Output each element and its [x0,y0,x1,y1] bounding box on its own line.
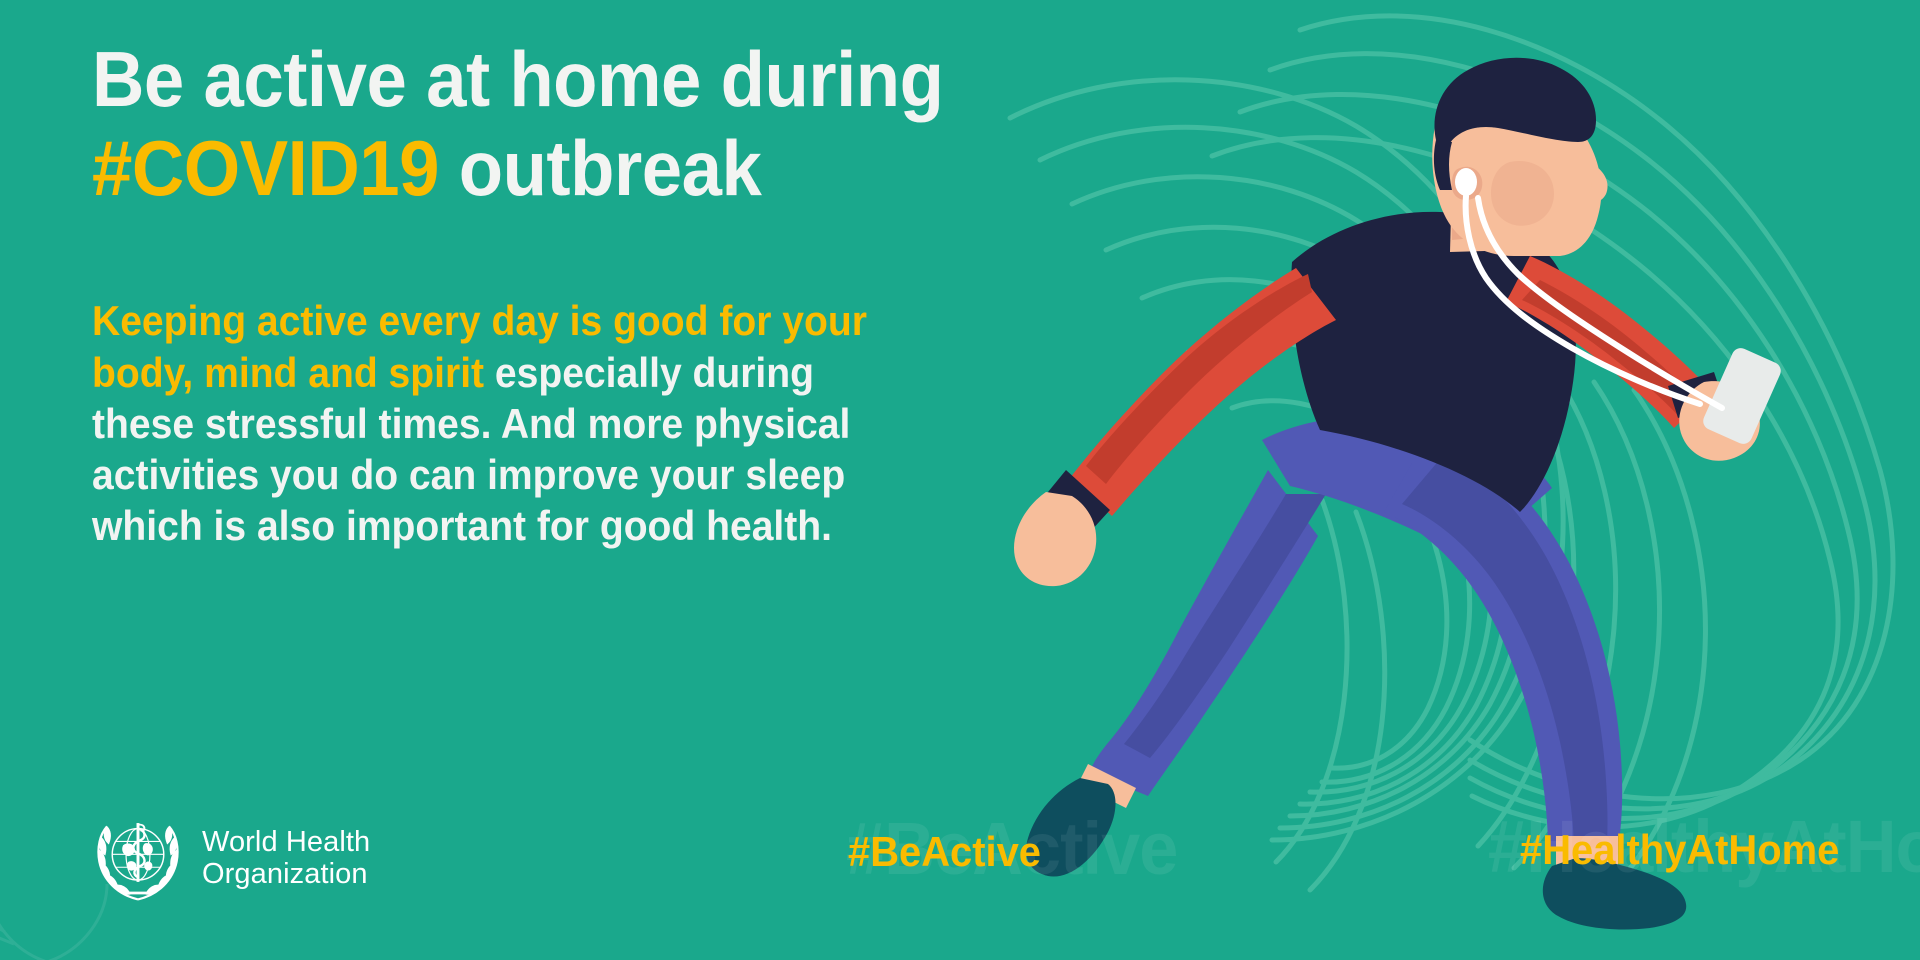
headline-text-1: Be active at home during [92,35,943,123]
headline-covid-tag: #COVID19 [92,124,439,212]
hashtag-healthyathome: #HealthyAtHome [1520,826,1839,874]
who-wordmark: World Health Organization [202,826,370,891]
earbud [1455,168,1477,196]
text-column: Be active at home during #COVID19 outbre… [92,38,1032,552]
who-logo: World Health Organization [92,812,370,904]
poster-canvas: Be active at home during #COVID19 outbre… [0,0,1920,960]
body-paragraph: Keeping active every day is good for you… [92,295,910,551]
who-wordmark-line-1: World Health [202,826,370,858]
headline-text-2: outbreak [439,124,761,212]
who-emblem-icon [92,812,184,904]
cheek-shade [1491,161,1554,226]
who-wordmark-line-2: Organization [202,858,370,890]
rear-leg-shade [1124,494,1326,758]
headline-line-2: #COVID19 outbreak [92,127,966,210]
headline-line-1: Be active at home during [92,38,966,121]
hashtag-beactive: #BeActive [848,828,1041,876]
